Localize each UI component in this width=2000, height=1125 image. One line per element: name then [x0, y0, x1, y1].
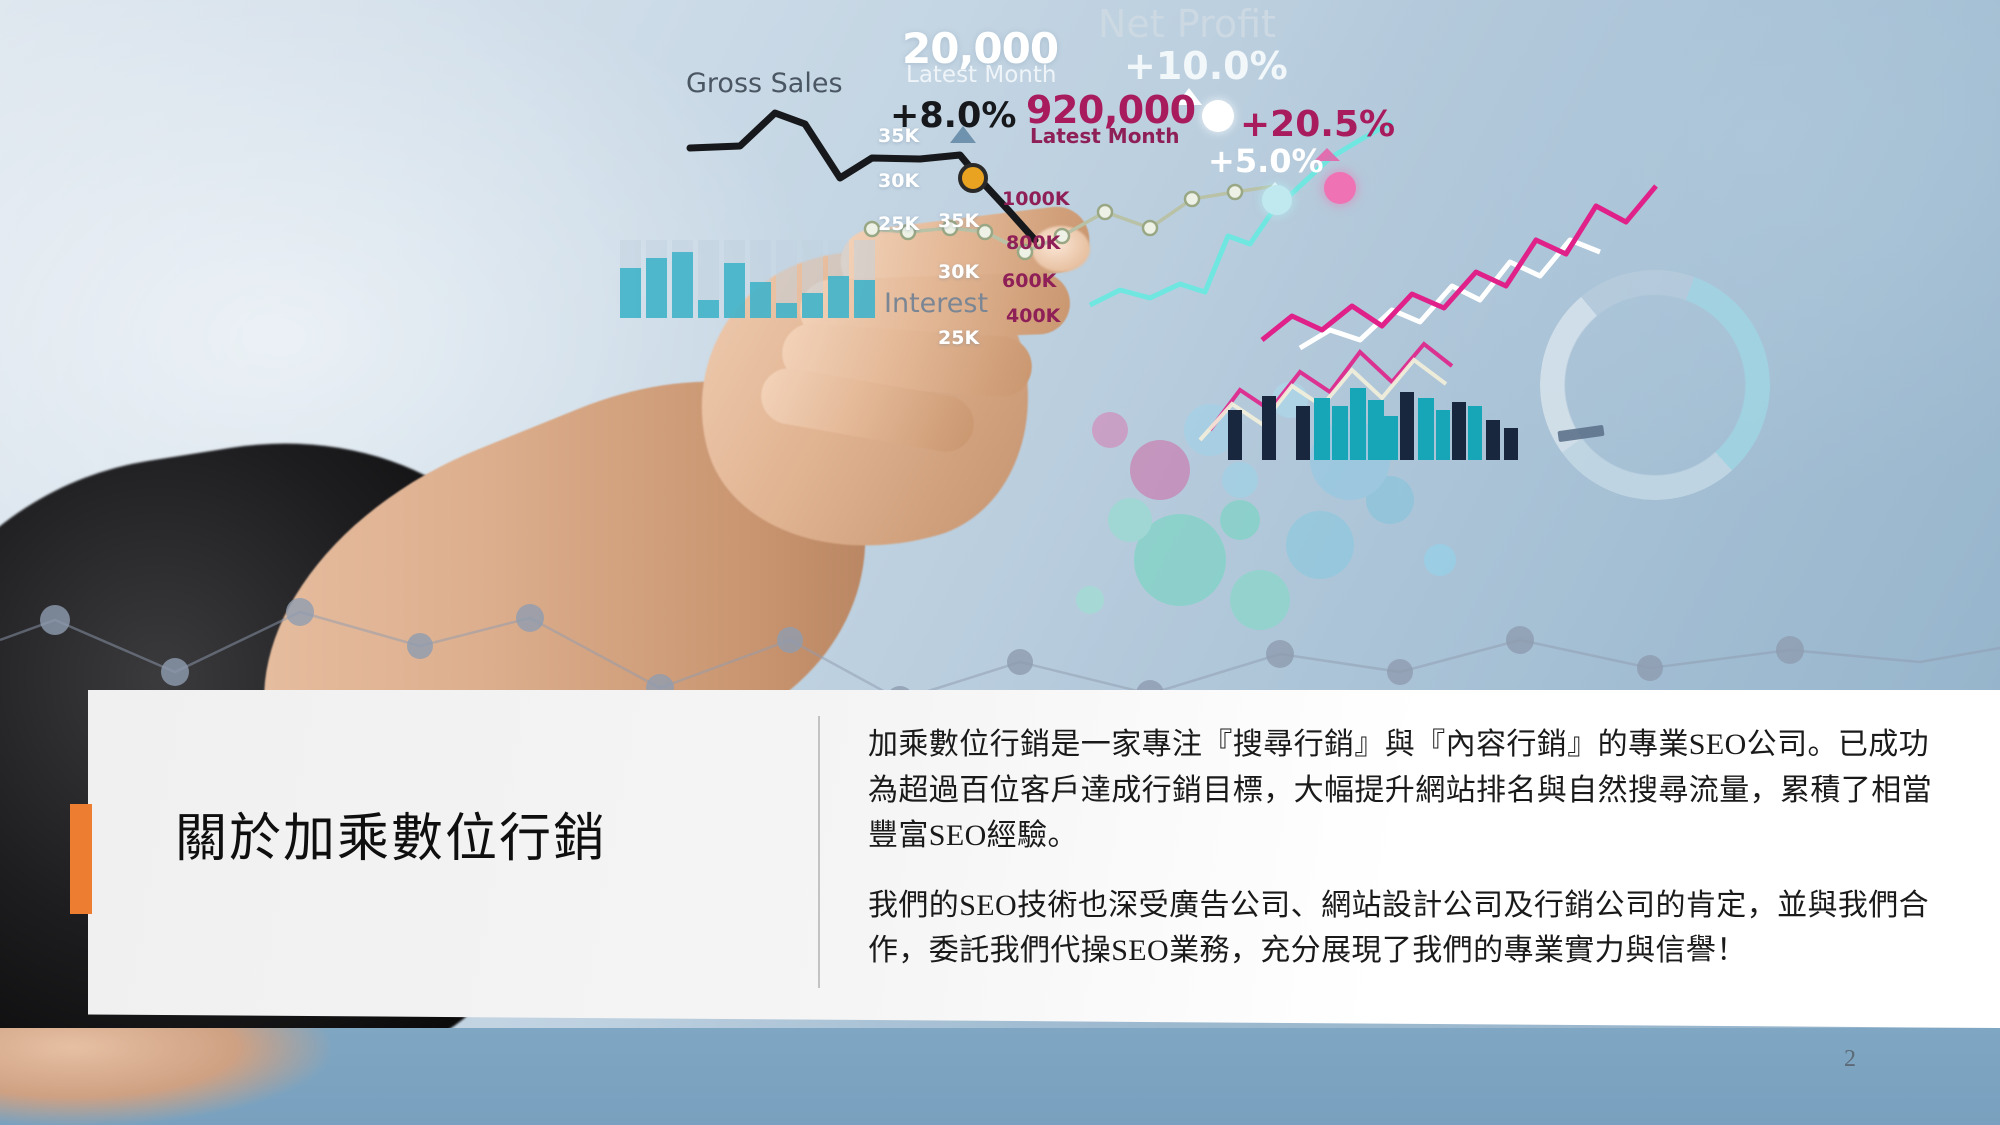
- axis-tick-b-35k: 35K: [938, 210, 979, 232]
- body-paragraph-1: 加乘數位行銷是一家專注『搜尋行銷』與『內容行銷』的專業SEO公司。已成功為超過百…: [868, 722, 1940, 859]
- axis-tick-c-600k: 600K: [1002, 270, 1056, 292]
- data-point-orange: [958, 163, 988, 193]
- metric-caption-latest-month-1: Latest Month: [906, 62, 1056, 88]
- interest-line: [872, 186, 1275, 252]
- chart-label-net-profit: Net Profit: [1098, 2, 1276, 46]
- metric-caption-latest-month-2: Latest Month: [1030, 124, 1179, 148]
- axis-tick-b-25k: 25K: [938, 327, 979, 349]
- axis-tick-b-30k: 30K: [938, 261, 979, 283]
- hand-bottom-edge: [0, 1028, 330, 1125]
- axis-tick-a-30k: 30K: [878, 170, 919, 192]
- axis-tick-c-800k: 800K: [1006, 232, 1060, 254]
- chart-label-interest: Interest: [884, 288, 988, 319]
- axis-tick-a-25k: 25K: [878, 213, 919, 235]
- metric-pct-10: +10.0%: [1124, 44, 1288, 88]
- vertical-divider: [818, 716, 820, 988]
- page-number: 2: [1830, 1046, 1870, 1073]
- axis-tick-c-400k: 400K: [1006, 305, 1060, 327]
- slide-canvas: Gross Sales 20,000 Latest Month +8.0% 92…: [0, 0, 2000, 1125]
- body-text: 加乘數位行銷是一家專注『搜尋行銷』與『內容行銷』的專業SEO公司。已成功為超過百…: [868, 722, 1940, 974]
- metric-pct-205: +20.5%: [1240, 104, 1395, 145]
- body-paragraph-2: 我們的SEO技術也深受廣告公司、網站設計公司及行銷公司的肯定，並與我們合作，委託…: [868, 883, 1940, 974]
- bottom-bar: [0, 1028, 2000, 1125]
- data-point-white: [1202, 100, 1234, 132]
- chart-label-gross-sales: Gross Sales: [686, 68, 843, 99]
- data-point-cyan: [1262, 185, 1292, 215]
- bar-chart-lower: [1228, 388, 1518, 460]
- pink-thin-line: [1210, 344, 1452, 430]
- data-point-pink: [1324, 172, 1356, 204]
- bar-chart-left: [620, 240, 875, 318]
- accent-bar: [70, 804, 92, 914]
- axis-tick-a-35k: 35K: [878, 125, 919, 147]
- axis-tick-c-1000k: 1000K: [1002, 188, 1070, 210]
- donut-chart: [1540, 270, 1770, 500]
- page-title: 關於加乘數位行銷: [175, 810, 665, 870]
- metric-pct-5: +5.0%: [1208, 142, 1324, 180]
